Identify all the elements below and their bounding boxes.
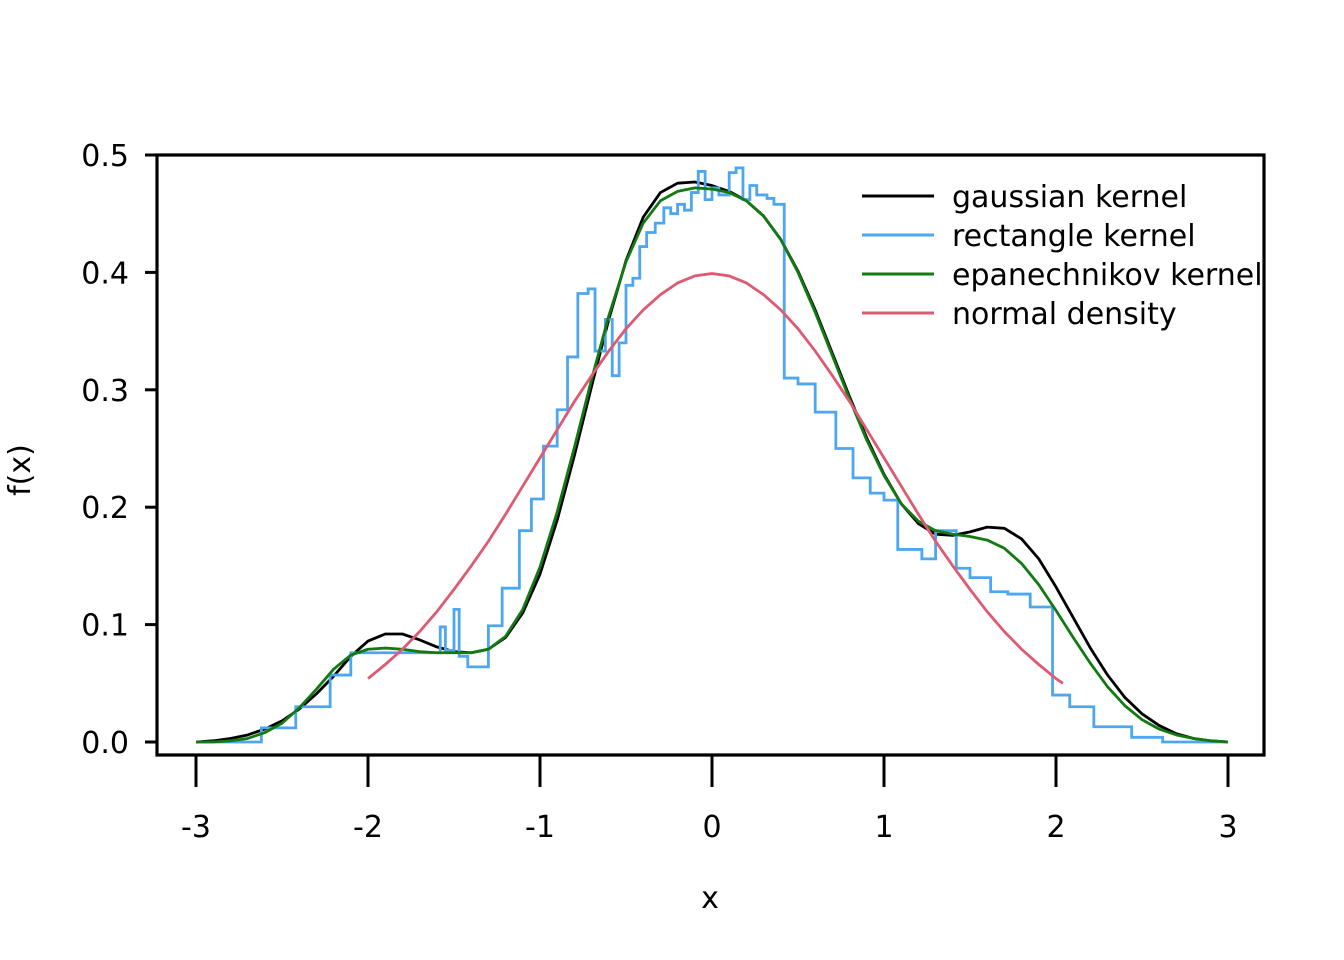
- x-tick-label: 1: [874, 810, 893, 845]
- y-tick-label: 0.2: [81, 491, 129, 526]
- y-tick-label: 0.0: [81, 726, 129, 761]
- y-tick-label: 0.4: [81, 256, 129, 291]
- y-tick-label: 0.3: [81, 374, 129, 409]
- x-tick-label: -1: [525, 810, 555, 845]
- x-axis-title: x: [701, 881, 719, 916]
- legend-label-0: gaussian kernel: [952, 180, 1187, 215]
- legend-label-3: normal density: [952, 297, 1177, 332]
- legend-label-2: epanechnikov kernel: [952, 258, 1263, 293]
- x-tick-label: 0: [702, 810, 721, 845]
- density-plot-svg: 0.00.10.20.30.40.5 -3-2-10123 gaussian k…: [0, 0, 1344, 960]
- legend-label-1: rectangle kernel: [952, 219, 1196, 254]
- x-tick-label: -2: [353, 810, 383, 845]
- figure-container: 0.00.10.20.30.40.5 -3-2-10123 gaussian k…: [0, 0, 1344, 960]
- y-axis-title: f(x): [3, 444, 38, 496]
- y-tick-label: 0.1: [81, 609, 129, 644]
- x-tick-label: 3: [1218, 810, 1237, 845]
- x-tick-label: 2: [1046, 810, 1065, 845]
- x-tick-label: -3: [181, 810, 211, 845]
- y-tick-label: 0.5: [81, 139, 129, 174]
